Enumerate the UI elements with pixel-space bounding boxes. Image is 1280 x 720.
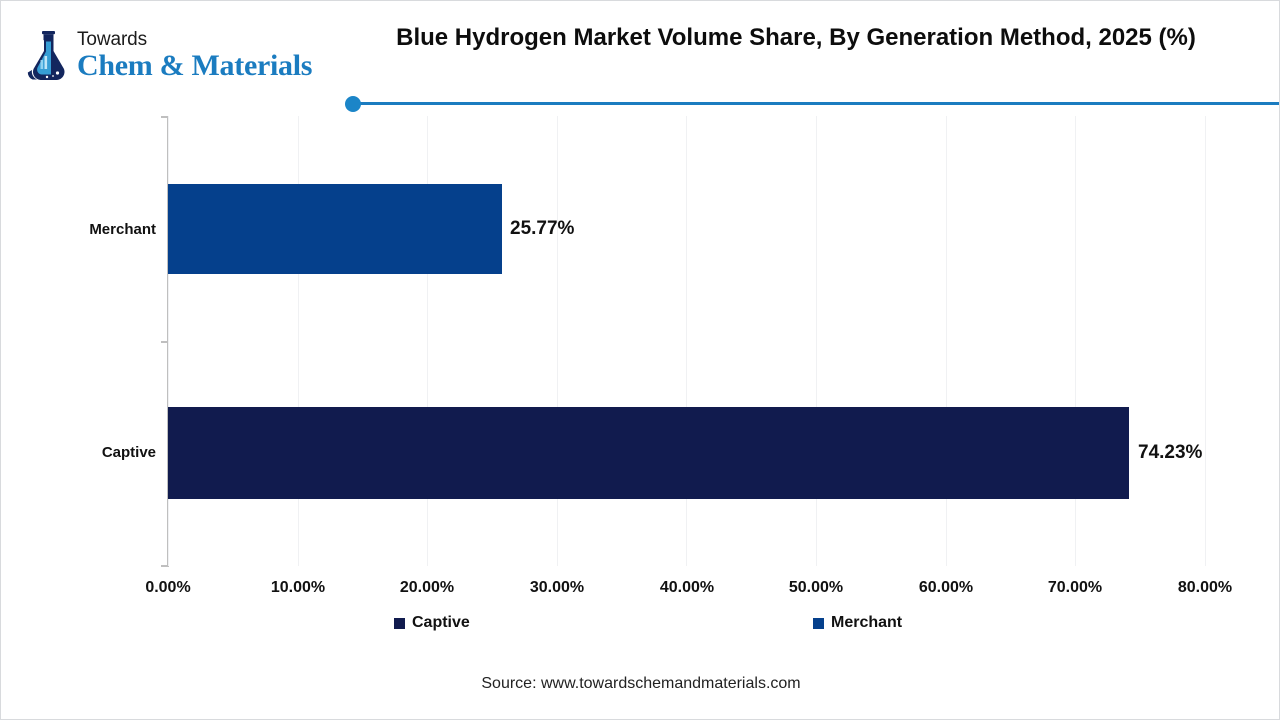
x-tick-30: 30.00% (530, 579, 584, 597)
bar-value-merchant: 25.77% (510, 218, 574, 240)
legend-item-merchant[interactable]: Merchant (813, 611, 902, 635)
x-tick-50: 50.00% (789, 579, 843, 597)
chart-title: Blue Hydrogen Market Volume Share, By Ge… (361, 19, 1231, 56)
gridline-80 (1205, 116, 1206, 566)
x-tick-60: 60.00% (919, 579, 973, 597)
bar-value-captive: 74.23% (1138, 442, 1202, 464)
flask-icon (23, 29, 71, 81)
accent-dot-icon (345, 96, 361, 112)
brand-wordmark: Towards Chem & Materials (77, 27, 312, 82)
accent-rule (345, 96, 1280, 112)
category-label-merchant: Merchant (89, 221, 156, 238)
bar-merchant[interactable] (168, 184, 502, 274)
brand-line-towards: Towards (77, 29, 312, 50)
x-tick-40: 40.00% (660, 579, 714, 597)
bar-captive[interactable] (168, 407, 1129, 499)
brand-line-chem-materials: Chem & Materials (77, 50, 312, 82)
x-tick-0: 0.00% (145, 579, 190, 597)
x-tick-10: 10.00% (271, 579, 325, 597)
chart-legend: Captive Merchant (1, 611, 1280, 637)
accent-line (353, 102, 1280, 105)
y-axis-tick-middle (161, 341, 168, 343)
plot-area: 25.77% 74.23% (168, 116, 1205, 566)
chart-canvas: Towards Chem & Materials Blue Hydrogen M… (0, 0, 1280, 720)
y-axis-tick-bottom (161, 565, 168, 567)
y-axis-category-labels: Merchant Captive (1, 116, 156, 566)
brand-logo: Towards Chem & Materials (23, 27, 312, 87)
x-tick-70: 70.00% (1048, 579, 1102, 597)
x-tick-80: 80.00% (1178, 579, 1232, 597)
legend-swatch-merchant (813, 618, 824, 629)
category-label-captive: Captive (102, 444, 156, 461)
y-axis-tick-top (161, 116, 168, 118)
x-axis-tick-labels: 0.00% 10.00% 20.00% 30.00% 40.00% 50.00%… (1, 579, 1280, 605)
legend-item-captive[interactable]: Captive (394, 611, 470, 635)
legend-label-captive: Captive (412, 614, 470, 632)
x-tick-20: 20.00% (400, 579, 454, 597)
legend-swatch-captive (394, 618, 405, 629)
source-text: Source: www.towardschemandmaterials.com (1, 675, 1280, 693)
legend-label-merchant: Merchant (831, 614, 902, 632)
